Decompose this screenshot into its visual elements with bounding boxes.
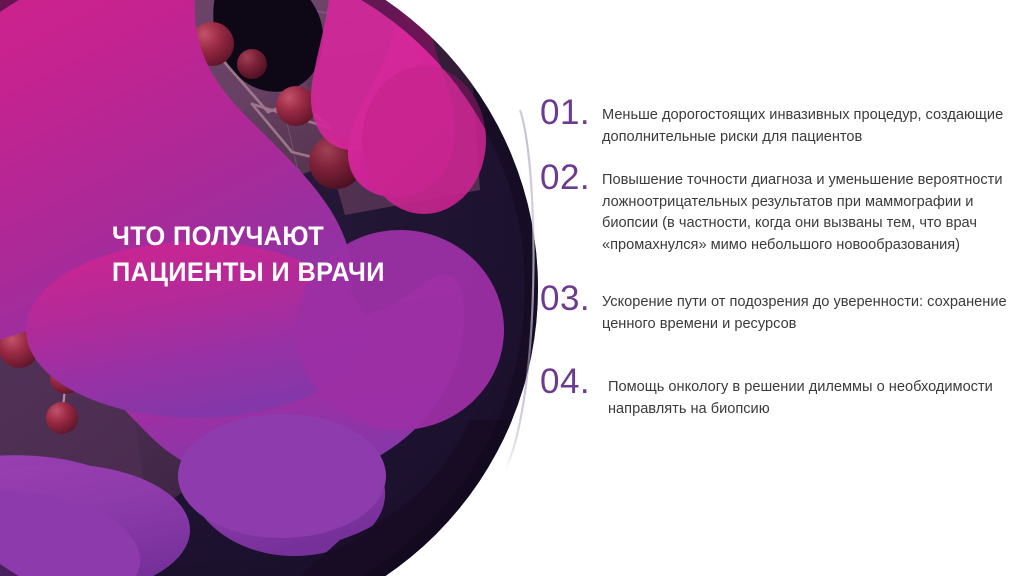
slide: ЧТО ПОЛУЧАЮТ ПАЦИЕНТЫ И ВРАЧИ 01. Меньше… bbox=[0, 0, 1024, 576]
list-item-number: 03. bbox=[540, 282, 602, 316]
list-item: 01. Меньше дорогостоящих инвазивных проц… bbox=[540, 96, 1010, 148]
list-item: 04. Помощь онкологу в решении дилеммы о … bbox=[540, 365, 1010, 420]
list-item-number: 01. bbox=[540, 96, 602, 130]
title-line-1: ЧТО ПОЛУЧАЮТ bbox=[112, 218, 432, 254]
list-item: 02. Повышение точности диагноза и уменьш… bbox=[540, 161, 1010, 256]
list-item-text: Повышение точности диагноза и уменьшение… bbox=[602, 161, 1010, 256]
page-title: ЧТО ПОЛУЧАЮТ ПАЦИЕНТЫ И ВРАЧИ bbox=[112, 218, 452, 290]
title-line-2: ПАЦИЕНТЫ И ВРАЧИ bbox=[112, 254, 432, 290]
list-item: 03. Ускорение пути от подозрения до увер… bbox=[540, 282, 1010, 335]
list-item-text: Ускорение пути от подозрения до уверенно… bbox=[602, 282, 1010, 335]
benefits-list: 01. Меньше дорогостоящих инвазивных проц… bbox=[540, 96, 1010, 420]
list-item-number: 02. bbox=[540, 161, 602, 195]
list-item-text: Помощь онкологу в решении дилеммы о необ… bbox=[608, 365, 1010, 420]
list-item-text: Меньше дорогостоящих инвазивных процедур… bbox=[602, 96, 1010, 148]
list-item-number: 04. bbox=[540, 365, 608, 399]
